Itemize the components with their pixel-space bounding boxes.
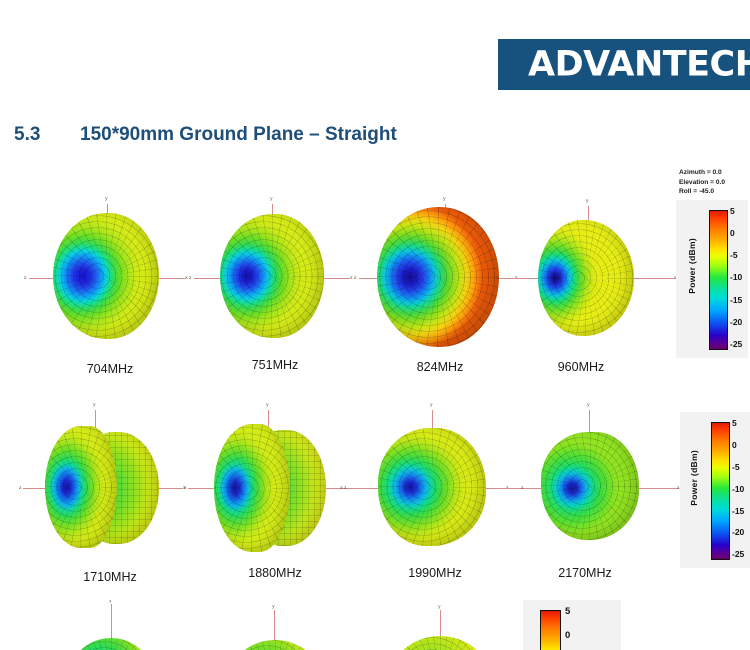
axis-label-z: z bbox=[19, 485, 21, 491]
radiation-pattern-3d: y x z bbox=[350, 400, 520, 570]
mesh-rings bbox=[538, 220, 634, 336]
colorbar-scale bbox=[540, 610, 561, 650]
roll-value: Roll = -45.0 bbox=[679, 187, 725, 197]
pattern-caption-2170mhz: 2170MHz bbox=[500, 566, 670, 580]
pattern-plot-751mhz[interactable]: y x z bbox=[190, 190, 360, 360]
section-title: 150*90mm Ground Plane – Straight bbox=[80, 124, 397, 145]
axis-label-z: z bbox=[344, 485, 346, 491]
pattern-plot-2170mhz[interactable]: y x z bbox=[505, 400, 675, 570]
colorbar-title: Power (dBm) bbox=[689, 450, 699, 506]
colorbar-panel-row1: Power (dBm) 5 0 -5 -10 -15 -20 -25 bbox=[676, 200, 748, 358]
mesh-rings bbox=[214, 424, 290, 552]
pattern-caption-960mhz: 960MHz bbox=[496, 360, 666, 374]
slide-page: ADVANTECH 5.3150*90mm Ground Plane – Str… bbox=[0, 0, 750, 650]
axis-label-x: x bbox=[340, 485, 343, 491]
axis-label-y: y bbox=[105, 196, 108, 202]
colorbar-scale bbox=[709, 210, 728, 350]
pattern-caption-1880mhz: 1880MHz bbox=[190, 566, 360, 580]
pattern-lobe bbox=[69, 638, 153, 650]
colorbar-title: Power (dBm) bbox=[687, 238, 697, 294]
colorbar-tick: -20 bbox=[732, 527, 744, 537]
pattern-plot-1990mhz[interactable]: y x z bbox=[350, 400, 520, 570]
axis-label-y: y bbox=[438, 604, 441, 610]
colorbar-tick: 5 bbox=[730, 206, 735, 216]
pattern-lobe bbox=[377, 207, 499, 347]
colorbar-tick: 0 bbox=[565, 630, 570, 641]
colorbar-gradient bbox=[711, 422, 728, 558]
axis-label-z: z bbox=[521, 485, 523, 491]
pattern-caption-751mhz: 751MHz bbox=[190, 358, 360, 372]
pattern-plot-row3-3[interactable]: y bbox=[350, 600, 520, 650]
pattern-plot-1880mhz[interactable]: y x z bbox=[190, 400, 360, 570]
radiation-pattern-3d: y x z bbox=[500, 190, 670, 360]
pattern-lobe-front bbox=[214, 424, 290, 552]
radiation-pattern-3d: y x z bbox=[505, 400, 675, 570]
axis-label-z: z bbox=[24, 275, 26, 281]
axis-label-y: y bbox=[430, 402, 433, 408]
elevation-value: Elevation = 0.0 bbox=[679, 178, 725, 188]
pattern-plot-960mhz[interactable]: y x z bbox=[500, 190, 670, 360]
colorbar-tick: -5 bbox=[732, 462, 740, 472]
mesh-rings bbox=[390, 636, 490, 650]
axis-label-x: x bbox=[185, 275, 188, 281]
axis-label-y: y bbox=[93, 402, 96, 408]
pattern-caption-704mhz: 704MHz bbox=[25, 362, 195, 376]
axis-label-y: y bbox=[443, 196, 446, 202]
mesh-rings bbox=[228, 640, 322, 650]
colorbar-tick: -25 bbox=[732, 549, 744, 559]
pattern-lobe-front bbox=[45, 426, 117, 548]
axis-label-y: y bbox=[266, 402, 269, 408]
pattern-lobe bbox=[220, 214, 324, 338]
radiation-pattern-3d: y x z bbox=[25, 400, 195, 570]
pattern-row-lowband: y x z 704MHz y x z bbox=[0, 190, 680, 380]
colorbar-tick: -5 bbox=[730, 250, 738, 260]
colorbar-tick: 0 bbox=[730, 228, 735, 238]
radiation-pattern-3d: y x z bbox=[190, 190, 360, 360]
radiation-pattern-3d: y x z bbox=[25, 190, 195, 360]
axis-label-z: z bbox=[184, 485, 186, 491]
azimuth-value: Azimuth = 0.0 bbox=[679, 168, 725, 178]
colorbar-tick: 0 bbox=[732, 440, 737, 450]
pattern-lobe bbox=[53, 213, 159, 339]
pattern-lobe bbox=[541, 432, 639, 540]
axis-label-y: y bbox=[587, 402, 590, 408]
mesh-rings bbox=[53, 213, 159, 339]
radiation-pattern-3d: y bbox=[350, 600, 520, 650]
mesh-rings bbox=[377, 207, 499, 347]
colorbar-tick: -15 bbox=[732, 506, 744, 516]
axis-label-y: y bbox=[109, 600, 112, 604]
pattern-plot-row3-2[interactable]: y bbox=[190, 600, 360, 650]
pattern-caption-1710mhz: 1710MHz bbox=[25, 570, 195, 584]
mesh-rings bbox=[220, 214, 324, 338]
mesh-rings bbox=[541, 432, 639, 540]
pattern-lobe bbox=[390, 636, 490, 650]
pattern-lobe bbox=[228, 640, 322, 650]
colorbar-tick: -10 bbox=[730, 272, 742, 282]
mesh-rings bbox=[69, 638, 153, 650]
radiation-pattern-3d: y x z bbox=[190, 400, 360, 570]
axis-label-y: y bbox=[272, 604, 275, 610]
pattern-row-highband: y x z 1710MHz y x bbox=[0, 400, 680, 590]
pattern-lobe bbox=[378, 428, 486, 546]
colorbar-tick: 5 bbox=[732, 418, 737, 428]
axis-label-z: z bbox=[496, 275, 498, 281]
colorbar-tick: -15 bbox=[730, 295, 742, 305]
colorbar-tick: -10 bbox=[732, 484, 744, 494]
radiation-pattern-3d: y bbox=[25, 600, 195, 650]
colorbar-tick: -20 bbox=[730, 317, 742, 327]
colorbar-tick: -25 bbox=[730, 339, 742, 349]
colorbar-panel-row2: Power (dBm) 5 0 -5 -10 -15 -20 -25 bbox=[680, 412, 750, 568]
axis-label-z: z bbox=[354, 275, 356, 281]
pattern-plot-row3-1[interactable]: y bbox=[25, 600, 195, 650]
radiation-pattern-3d: y bbox=[190, 600, 360, 650]
colorbar-tick: 5 bbox=[565, 606, 570, 617]
section-heading: 5.3150*90mm Ground Plane – Straight bbox=[14, 124, 397, 146]
advantech-logo-banner: ADVANTECH bbox=[498, 39, 750, 90]
section-number: 5.3 bbox=[14, 124, 80, 146]
colorbar-scale bbox=[711, 422, 730, 560]
pattern-lobe bbox=[538, 220, 634, 336]
mesh-rings bbox=[45, 426, 117, 548]
orientation-readout: Azimuth = 0.0 Elevation = 0.0 Roll = -45… bbox=[679, 168, 725, 197]
axis-label-y: y bbox=[270, 196, 273, 202]
pattern-caption-1990mhz: 1990MHz bbox=[350, 566, 520, 580]
mesh-rings bbox=[378, 428, 486, 546]
axis-label-y: y bbox=[586, 198, 589, 204]
axis-label-x: x bbox=[350, 275, 353, 281]
axis-label-z: z bbox=[189, 275, 191, 281]
colorbar-gradient bbox=[540, 610, 559, 650]
colorbar-panel-row3: 5 0 bbox=[523, 600, 621, 650]
pattern-plot-1710mhz[interactable]: y x z bbox=[25, 400, 195, 570]
pattern-plot-704mhz[interactable]: y x z bbox=[25, 190, 195, 360]
advantech-wordmark: ADVANTECH bbox=[528, 47, 750, 82]
colorbar-gradient bbox=[709, 210, 726, 348]
